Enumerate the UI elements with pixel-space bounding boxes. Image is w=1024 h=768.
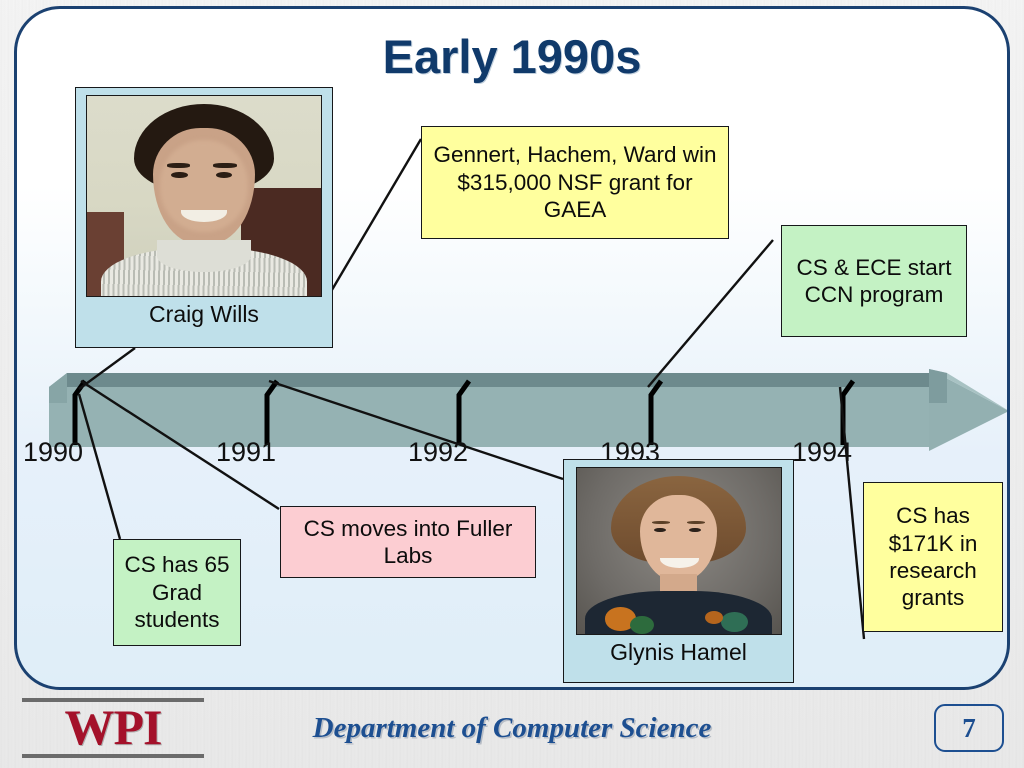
callout-fuller-labs[interactable]: CS moves into Fuller Labs [280, 506, 536, 578]
page-number-badge: 7 [934, 704, 1004, 752]
photo-card-glynis-hamel[interactable]: Glynis Hamel [563, 459, 794, 683]
photo-caption-craig-wills: Craig Wills [149, 301, 259, 328]
page-title: Early 1990s [17, 29, 1007, 84]
slide-footer: WPI Department of Computer Science 7 [0, 690, 1024, 768]
timeline-arrow [49, 369, 1009, 451]
callout-gaea-grant[interactable]: Gennert, Hachem, Ward win $315,000 NSF g… [421, 126, 729, 239]
footer-department-title: Department of Computer Science [0, 712, 1024, 745]
timeline-arrow-svg [49, 369, 1009, 451]
connector-wills-to-gaea [326, 139, 421, 300]
glynis-hamel-photo [576, 467, 782, 635]
callout-ccn-program[interactable]: CS & ECE start CCN program [781, 225, 967, 337]
callout-grad-students[interactable]: CS has 65 Grad students [113, 539, 241, 646]
slide-body: Early 1990s [14, 6, 1010, 690]
photo-caption-glynis-hamel: Glynis Hamel [610, 639, 747, 666]
callout-research-grants[interactable]: CS has $171K in research grants [863, 482, 1003, 632]
year-label-1992: 1992 [408, 437, 468, 468]
year-label-1990: 1990 [23, 437, 83, 468]
year-label-1991: 1991 [216, 437, 276, 468]
year-label-1994: 1994 [792, 437, 852, 468]
photo-card-craig-wills[interactable]: Craig Wills [75, 87, 333, 348]
connector-1993-to-ccn [648, 240, 773, 387]
craig-wills-photo [86, 95, 322, 297]
